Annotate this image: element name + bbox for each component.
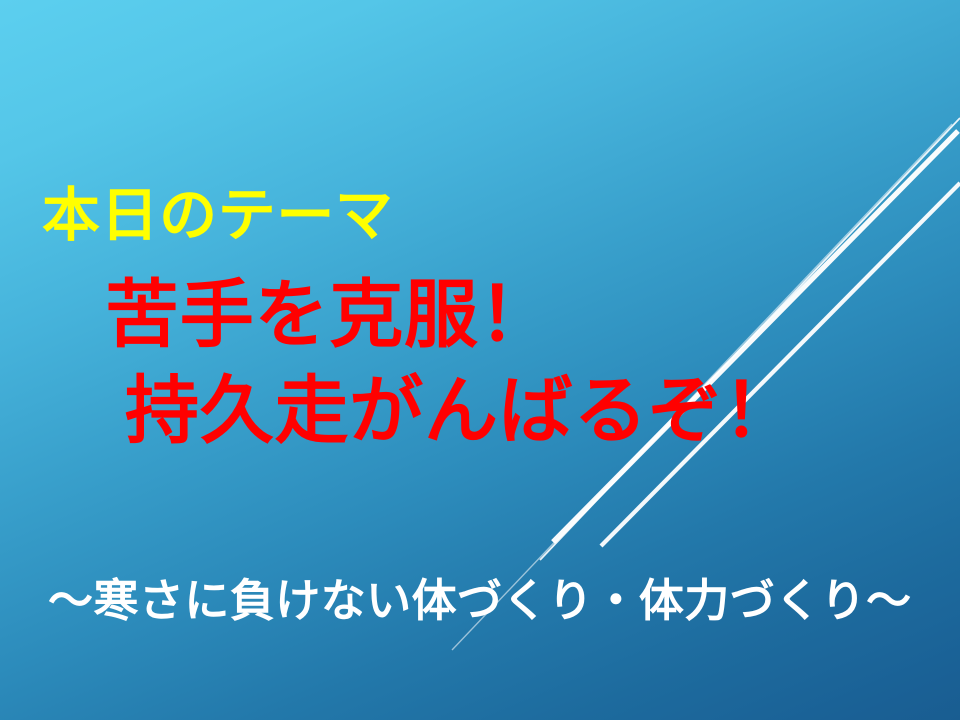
- subtitle: 〜寒さに負けない体づくり・体力づくり〜: [48, 578, 912, 623]
- slide-canvas: 本日のテーマ 苦手を克服！ 持久走がんばるぞ！ 〜寒さに負けない体づくり・体力づ…: [0, 0, 960, 720]
- streak-line-medium: [601, 183, 960, 546]
- streak-line-thick: [553, 131, 958, 542]
- headline-line-2: 持久走がんばるぞ！: [125, 374, 798, 448]
- headline-line-1: 苦手を克服！: [105, 278, 553, 352]
- streak-line-thin: [540, 118, 960, 560]
- theme-label: 本日のテーマ: [42, 186, 393, 244]
